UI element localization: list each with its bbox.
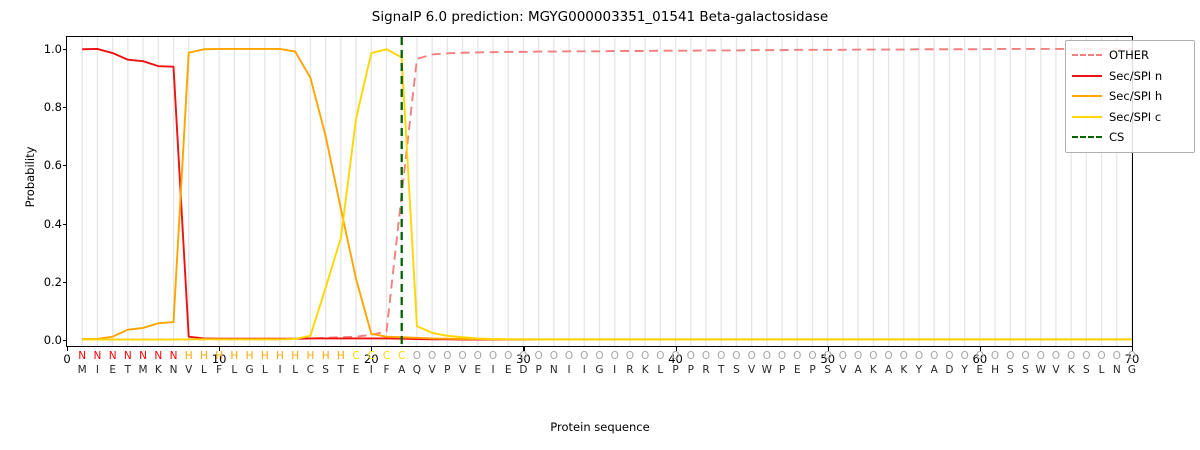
legend-label: Sec/SPI c: [1109, 110, 1161, 124]
y-tick-label: 0.0: [0, 333, 62, 347]
region-glyph: O: [1119, 350, 1145, 362]
legend-label: Sec/SPI n: [1109, 69, 1162, 83]
region-label-track: NNNNNNNHHHHHHHHHHHCCCCOOOOOOOOOOOOOOOOOO…: [0, 350, 1200, 364]
series-line-sec-spi-h: [82, 49, 1132, 339]
plot-canvas: [67, 37, 1132, 346]
legend: OTHERSec/SPI nSec/SPI hSec/SPI cCS: [1065, 40, 1195, 153]
legend-item-sec-spi-n[interactable]: Sec/SPI n: [1066, 66, 1194, 87]
legend-swatch: [1072, 110, 1102, 124]
series-line-other: [82, 49, 1132, 340]
residue-glyph: G: [1119, 364, 1145, 376]
legend-swatch: [1072, 48, 1102, 62]
y-tick-label: 1.0: [0, 42, 62, 56]
legend-swatch: [1072, 89, 1102, 103]
legend-item-sec-spi-h[interactable]: Sec/SPI h: [1066, 86, 1194, 107]
plot-area: [66, 36, 1133, 347]
y-tick-label: 0.2: [0, 275, 62, 289]
y-axis-label: Probability: [23, 97, 37, 257]
signalp-prediction-figure: SignalP 6.0 prediction: MGYG000003351_01…: [0, 0, 1200, 450]
legend-item-other[interactable]: OTHER: [1066, 45, 1194, 66]
y-tick-label: 0.8: [0, 100, 62, 114]
sequence-label-track: MIETMKNVLFLGLILCSTEIFAQVPVEIEDPNIIGIRKLP…: [0, 364, 1200, 378]
y-tick-label: 0.6: [0, 158, 62, 172]
legend-swatch: [1072, 69, 1102, 83]
chart-title: SignalP 6.0 prediction: MGYG000003351_01…: [0, 9, 1200, 25]
y-tick-label: 0.4: [0, 217, 62, 231]
legend-label: Sec/SPI h: [1109, 89, 1162, 103]
series-line-sec-spi-n: [82, 49, 1132, 340]
legend-item-cs[interactable]: CS: [1066, 127, 1194, 148]
x-axis-label: Protein sequence: [0, 420, 1200, 434]
legend-item-sec-spi-c[interactable]: Sec/SPI c: [1066, 107, 1194, 128]
legend-swatch: [1072, 130, 1102, 144]
legend-label: OTHER: [1109, 48, 1149, 62]
legend-label: CS: [1109, 130, 1124, 144]
series-line-sec-spi-c: [82, 49, 1132, 339]
